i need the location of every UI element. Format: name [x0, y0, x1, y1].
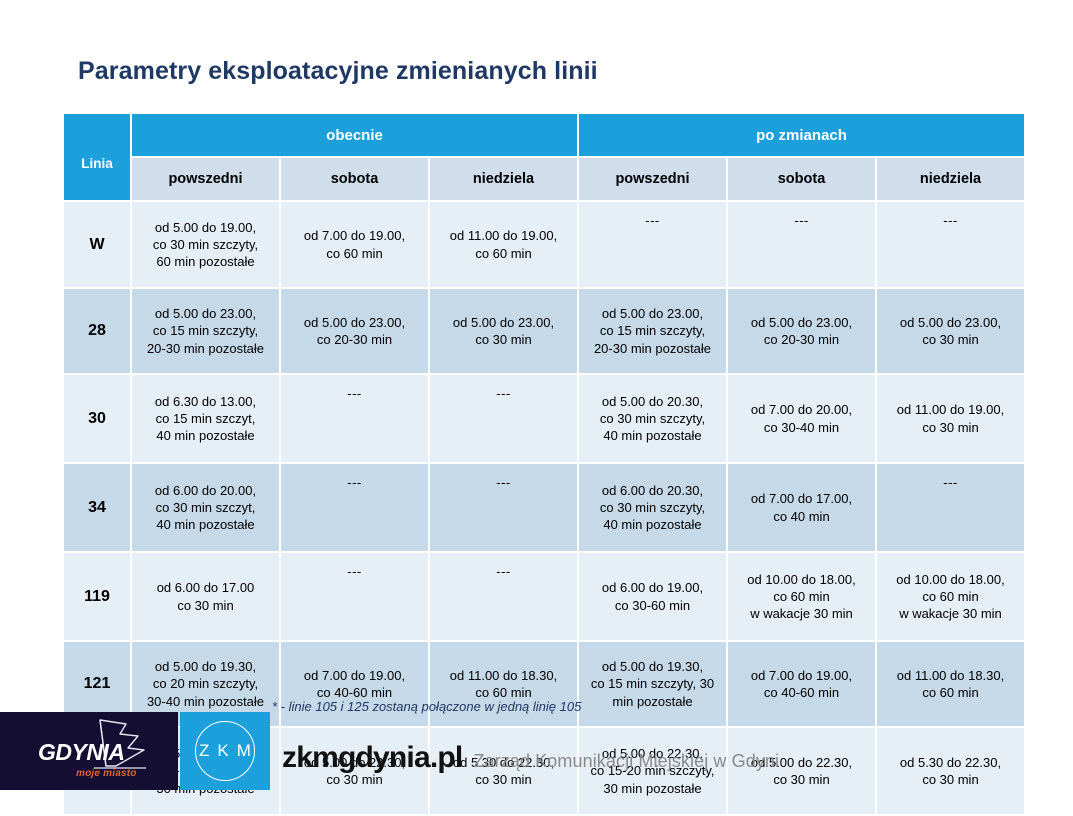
schedule-line: co 15 min szczyty, 30 min pozostałe — [584, 675, 721, 709]
schedule-line: od 11.00 do 18.30, — [435, 667, 572, 684]
schedule-line: od 5.00 do 23.00, — [286, 314, 423, 331]
schedule-line: --- — [882, 474, 1019, 491]
schedule-line: co 30 min szczyty, — [584, 499, 721, 516]
brand-domain: zkmgdynia.pl — [282, 741, 462, 775]
cell-line-number: 119 — [64, 553, 130, 640]
line-number-text: 30 — [64, 409, 130, 429]
cell-no-service: --- — [281, 375, 428, 462]
schedule-line: od 6.30 do 13.00, — [137, 393, 274, 410]
header-day-po-zmianach-sobota: sobota — [728, 158, 875, 200]
schedule-line: od 5.00 do 23.00, — [882, 314, 1019, 331]
schedule-line: 40 min pozostałe — [584, 516, 721, 533]
table-head: Linia obecnie po zmianach powszedni sobo… — [64, 114, 1024, 200]
header-day-obecnie-sobota: sobota — [281, 158, 428, 200]
schedule-line: co 40 min — [733, 508, 870, 525]
schedule-line: --- — [435, 563, 572, 580]
cell-no-service: --- — [877, 202, 1024, 287]
cell-schedule: od 6.00 do 20.30,co 30 min szczyty,40 mi… — [579, 464, 726, 551]
schedule-line: od 5.00 do 20.30, — [584, 393, 721, 410]
schedule-line: --- — [286, 563, 423, 580]
cell-schedule: od 5.00 do 20.30,co 30 min szczyty,40 mi… — [579, 375, 726, 462]
schedule-line: --- — [584, 212, 721, 229]
schedule-line: co 30 min — [137, 597, 274, 614]
schedule-line: 40 min pozostałe — [584, 427, 721, 444]
gdynia-logo: GDYNIA moje miasto — [0, 712, 178, 790]
gdynia-tagline: moje miasto — [76, 768, 137, 779]
schedule-line: od 7.00 do 19.00, — [286, 227, 423, 244]
line-number-text: 119 — [64, 587, 130, 607]
schedule-line: od 11.00 do 18.30, — [882, 667, 1019, 684]
cell-no-service: --- — [430, 375, 577, 462]
schedule-line: co 15 min szczyt, — [137, 410, 274, 427]
cell-schedule: od 11.00 do 19.00,co 30 min — [877, 375, 1024, 462]
cell-schedule: od 5.00 do 23.00,co 15 min szczyty,20-30… — [132, 289, 279, 373]
cell-schedule: od 5.00 do 23.00,co 20-30 min — [728, 289, 875, 373]
schedule-line: 60 min pozostałe — [137, 253, 274, 270]
cell-schedule: od 11.00 do 19.00,co 60 min — [430, 202, 577, 287]
schedule-line: od 5.00 do 19.00, — [137, 219, 274, 236]
cell-no-service: --- — [877, 464, 1024, 551]
cell-schedule: od 5.00 do 23.00,co 30 min — [430, 289, 577, 373]
schedule-line: --- — [882, 212, 1019, 229]
schedule-line: od 6.00 do 20.00, — [137, 482, 274, 499]
schedule-line: co 30 min — [882, 331, 1019, 348]
schedule-line: co 30-40 min — [733, 419, 870, 436]
gdynia-wordmark: GDYNIA — [38, 739, 124, 766]
schedule-line: od 7.00 do 19.00, — [733, 667, 870, 684]
schedule-line: co 30 min — [435, 331, 572, 348]
schedule-line: 40 min pozostałe — [137, 516, 274, 533]
table-row: 34od 6.00 do 20.00,co 30 min szczyt,40 m… — [64, 464, 1024, 551]
zkm-letters: ZKM — [180, 741, 270, 761]
cell-no-service: --- — [281, 464, 428, 551]
schedule-line: od 5.00 do 23.00, — [733, 314, 870, 331]
schedule-line: od 11.00 do 19.00, — [882, 401, 1019, 418]
schedule-line: od 11.00 do 19.00, — [435, 227, 572, 244]
table-row: 119od 6.00 do 17.00co 30 min------od 6.0… — [64, 553, 1024, 640]
header-day-obecnie-powszedni: powszedni — [132, 158, 279, 200]
cell-line-number: 28 — [64, 289, 130, 373]
schedule-line: co 60 min — [286, 245, 423, 262]
line-number-text: 34 — [64, 498, 130, 518]
schedule-line: od 10.00 do 18.00, — [733, 571, 870, 588]
schedule-line: --- — [286, 385, 423, 402]
schedule-line: co 30-60 min — [584, 597, 721, 614]
page-footer: GDYNIA moje miasto ZKM zkmgdynia.pl Zarz… — [0, 712, 1073, 790]
schedule-line: 20-30 min pozostałe — [137, 340, 274, 357]
schedule-line: od 5.00 do 19.30, — [137, 658, 274, 675]
header-day-po-zmianach-niedziela: niedziela — [877, 158, 1024, 200]
cell-schedule: od 5.00 do 23.00,co 20-30 min — [281, 289, 428, 373]
cell-no-service: --- — [430, 553, 577, 640]
schedule-line: --- — [435, 474, 572, 491]
schedule-line: co 30 min szczyt, — [137, 499, 274, 516]
table-row: Wod 5.00 do 19.00,co 30 min szczyty,60 m… — [64, 202, 1024, 287]
header-group-obecnie: obecnie — [132, 114, 577, 156]
cell-no-service: --- — [430, 464, 577, 551]
cell-no-service: --- — [579, 202, 726, 287]
table-row: 28od 5.00 do 23.00,co 15 min szczyty,20-… — [64, 289, 1024, 373]
schedule-line: co 20-30 min — [286, 331, 423, 348]
brand-subtitle: Zarząd Komunikacji Miejskiej w Gdyni — [473, 751, 779, 772]
line-number-text: 121 — [64, 674, 130, 694]
line-number-text: 28 — [64, 321, 130, 341]
schedule-line: co 60 min — [882, 588, 1019, 605]
cell-schedule: od 5.00 do 23.00,co 15 min szczyty,20-30… — [579, 289, 726, 373]
schedule-line: od 7.00 do 20.00, — [733, 401, 870, 418]
schedule-line: --- — [733, 212, 870, 229]
schedule-line: 40 min pozostałe — [137, 427, 274, 444]
schedule-line: od 6.00 do 17.00 — [137, 579, 274, 596]
cell-schedule: od 5.00 do 19.00,co 30 min szczyty,60 mi… — [132, 202, 279, 287]
schedule-line: co 20-30 min — [733, 331, 870, 348]
schedule-line: od 5.00 do 23.00, — [137, 305, 274, 322]
schedule-line: od 10.00 do 18.00, — [882, 571, 1019, 588]
zkm-logo: ZKM — [180, 712, 270, 790]
cell-no-service: --- — [281, 553, 428, 640]
schedule-line: co 30 min — [882, 419, 1019, 436]
line-number-text: W — [64, 235, 130, 255]
cell-schedule: od 6.00 do 17.00co 30 min — [132, 553, 279, 640]
table-header-group-row: Linia obecnie po zmianach — [64, 114, 1024, 156]
schedule-line: 30-40 min pozostałe — [137, 693, 274, 710]
cell-line-number: W — [64, 202, 130, 287]
schedule-line: 20-30 min pozostałe — [584, 340, 721, 357]
header-linia: Linia — [64, 114, 130, 200]
cell-no-service: --- — [728, 202, 875, 287]
cell-schedule: od 7.00 do 20.00,co 30-40 min — [728, 375, 875, 462]
footer-brand: zkmgdynia.pl Zarząd Komunikacji Miejskie… — [282, 741, 779, 775]
cell-schedule: od 6.00 do 19.00,co 30-60 min — [579, 553, 726, 640]
schedule-line: co 60 min — [435, 245, 572, 262]
schedule-line: co 30 min szczyty, — [137, 236, 274, 253]
cell-schedule: od 10.00 do 18.00,co 60 minw wakacje 30 … — [877, 553, 1024, 640]
schedule-line: od 5.00 do 19.30, — [584, 658, 721, 675]
page-title: Parametry eksploatacyjne zmienianych lin… — [78, 57, 598, 86]
header-group-po-zmianach: po zmianach — [579, 114, 1024, 156]
table-header-day-row: powszedni sobota niedziela powszedni sob… — [64, 158, 1024, 200]
schedule-line: od 5.00 do 23.00, — [435, 314, 572, 331]
schedule-line: co 60 min — [733, 588, 870, 605]
schedule-line: co 15 min szczyty, — [584, 322, 721, 339]
cell-line-number: 34 — [64, 464, 130, 551]
schedule-line: --- — [286, 474, 423, 491]
schedule-line: --- — [435, 385, 572, 402]
cell-schedule: od 5.00 do 23.00,co 30 min — [877, 289, 1024, 373]
schedule-line: od 6.00 do 20.30, — [584, 482, 721, 499]
schedule-line: co 40-60 min — [733, 684, 870, 701]
cell-schedule: od 6.00 do 20.00,co 30 min szczyt,40 min… — [132, 464, 279, 551]
header-day-po-zmianach-powszedni: powszedni — [579, 158, 726, 200]
schedule-line: co 30 min szczyty, — [584, 410, 721, 427]
schedule-line: co 20 min szczyty, — [137, 675, 274, 692]
schedule-line: w wakacje 30 min — [882, 605, 1019, 622]
schedule-line: od 7.00 do 19.00, — [286, 667, 423, 684]
cell-schedule: od 7.00 do 19.00,co 60 min — [281, 202, 428, 287]
cell-schedule: od 7.00 do 17.00,co 40 min — [728, 464, 875, 551]
cell-schedule: od 6.30 do 13.00,co 15 min szczyt,40 min… — [132, 375, 279, 462]
header-day-obecnie-niedziela: niedziela — [430, 158, 577, 200]
schedule-line: co 60 min — [882, 684, 1019, 701]
table-row: 30od 6.30 do 13.00,co 15 min szczyt,40 m… — [64, 375, 1024, 462]
gdynia-logo-mark: GDYNIA moje miasto — [10, 718, 170, 782]
schedule-line: w wakacje 30 min — [733, 605, 870, 622]
cell-line-number: 30 — [64, 375, 130, 462]
schedule-line: co 15 min szczyty, — [137, 322, 274, 339]
schedule-line: od 5.00 do 23.00, — [584, 305, 721, 322]
cell-schedule: od 10.00 do 18.00,co 60 minw wakacje 30 … — [728, 553, 875, 640]
schedule-line: od 6.00 do 19.00, — [584, 579, 721, 596]
schedule-line: od 7.00 do 17.00, — [733, 490, 870, 507]
